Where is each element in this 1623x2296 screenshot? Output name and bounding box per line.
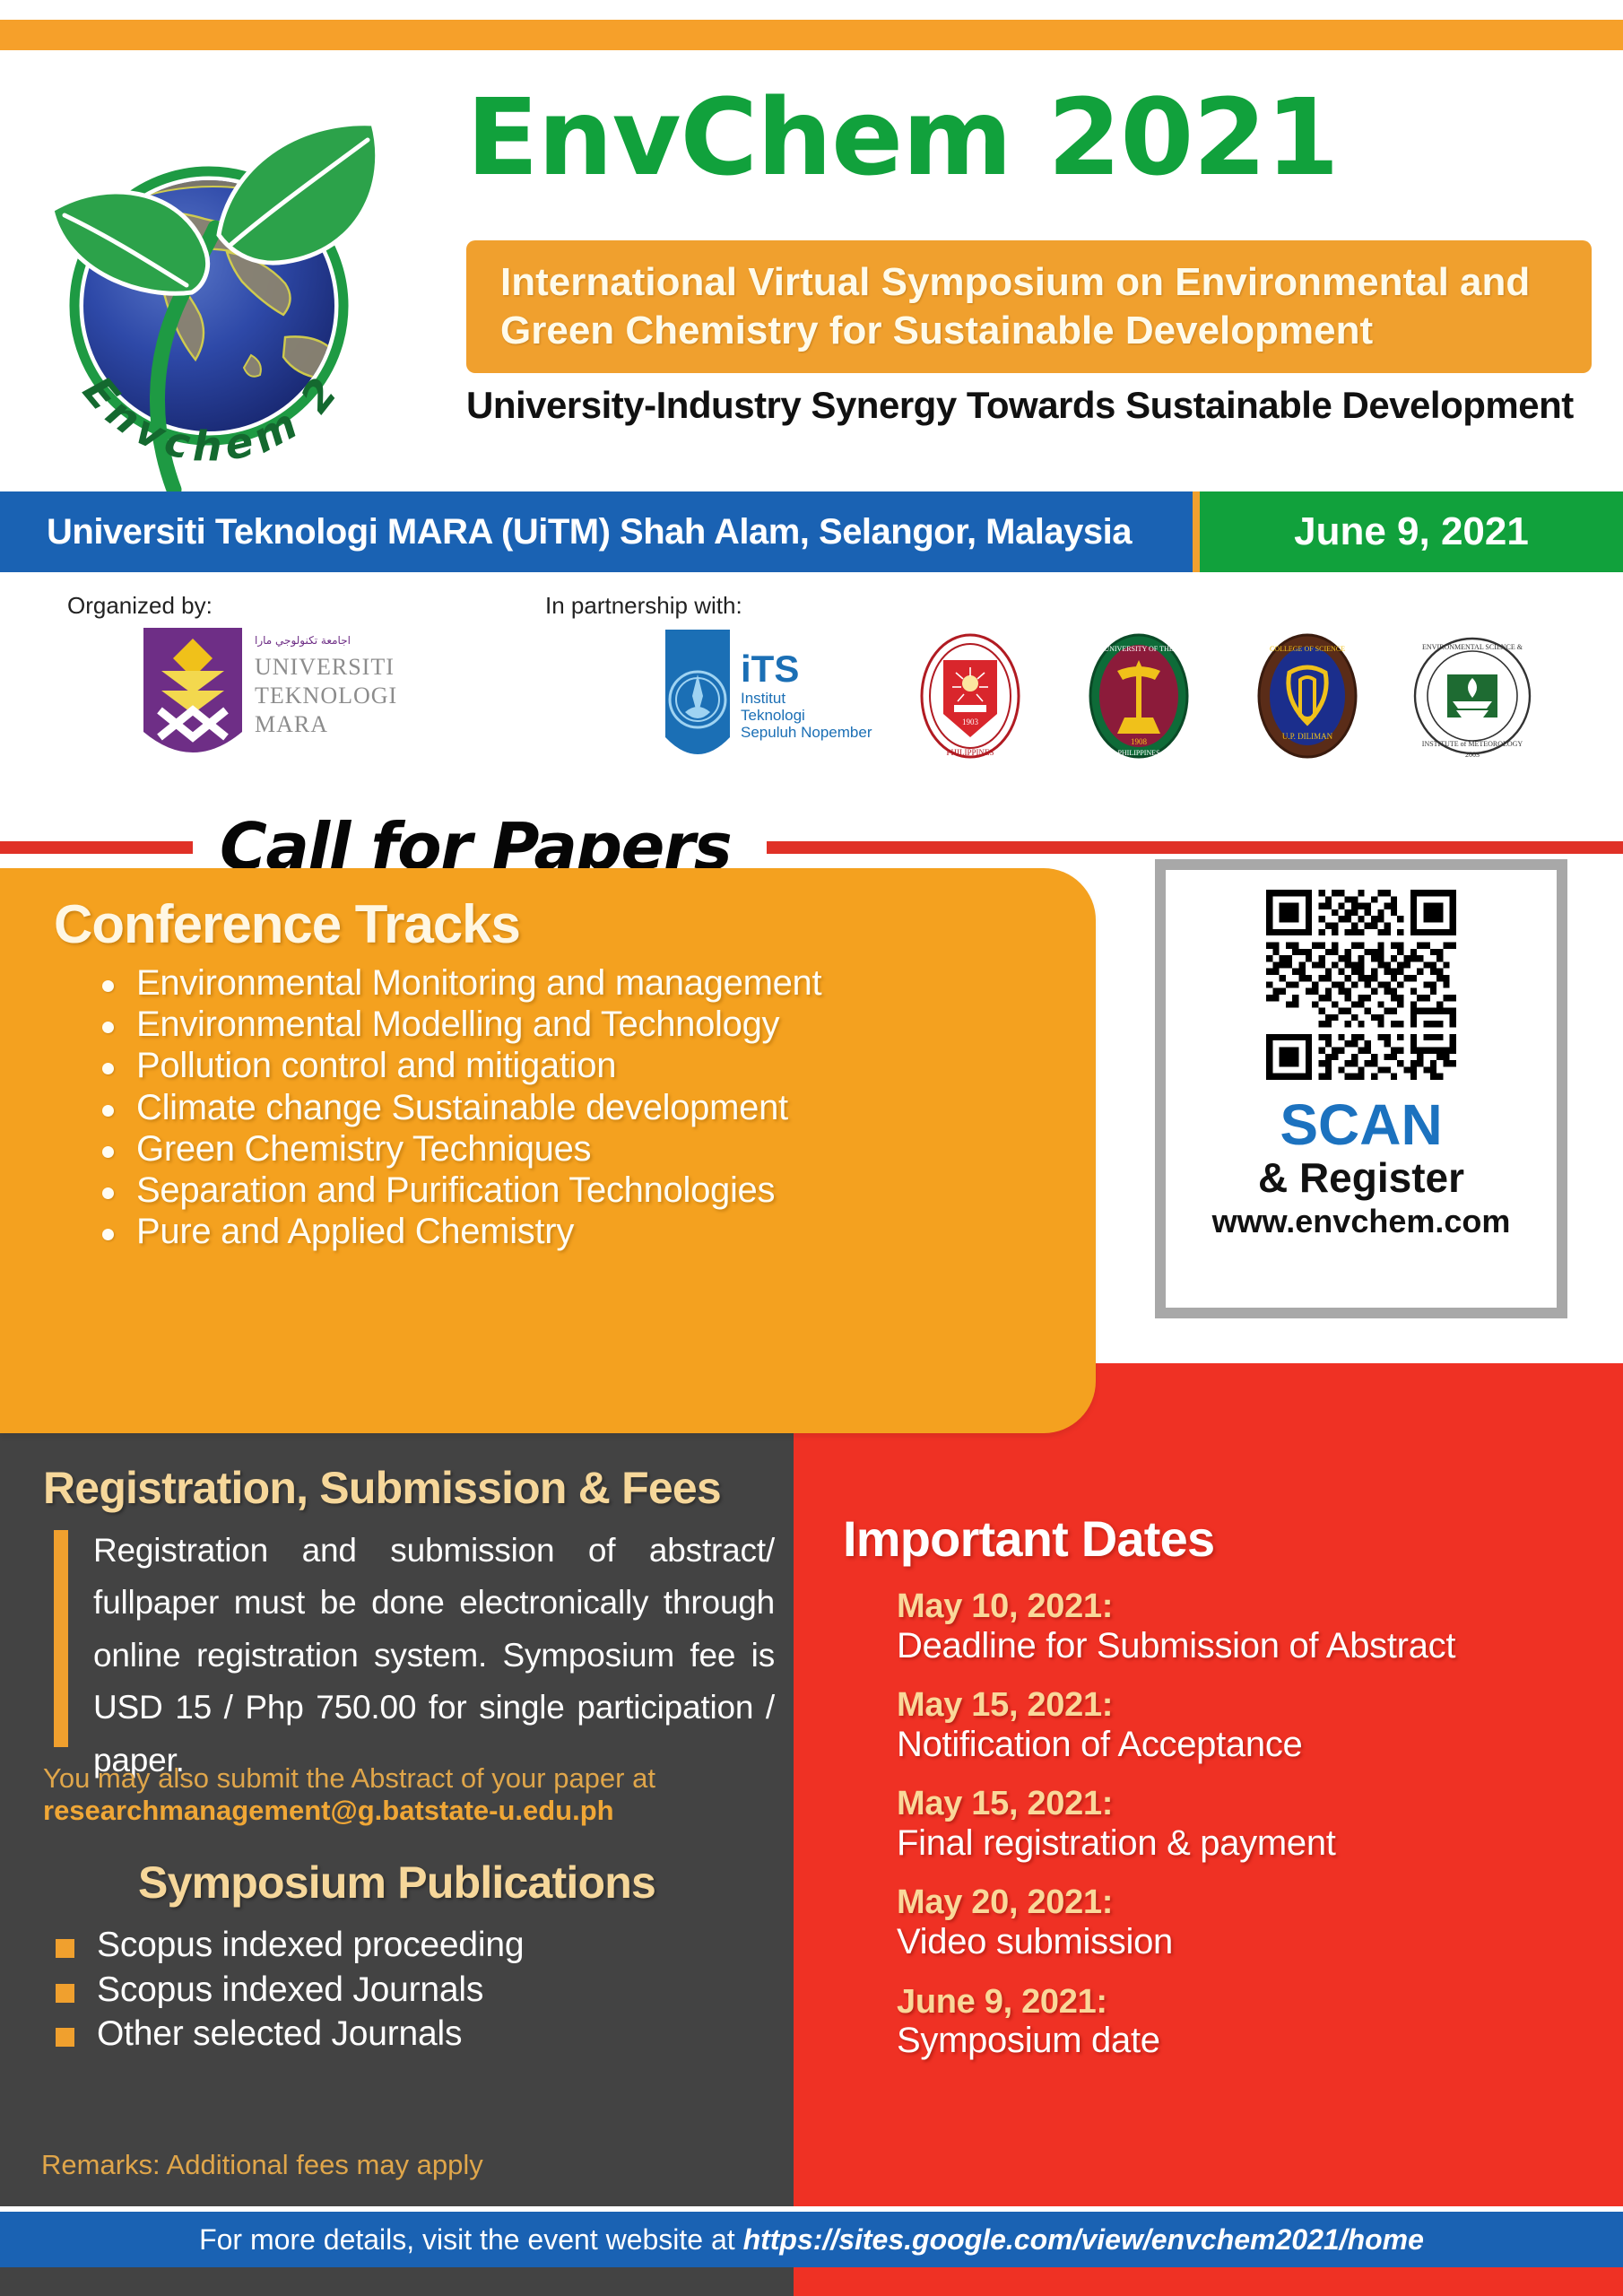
svg-text:COLLEGE OF SCIENCE: COLLEGE OF SCIENCE (1270, 645, 1345, 653)
cfp-rule-right (767, 841, 1623, 854)
list-item: May 10, 2021: Deadline for Submission of… (897, 1587, 1605, 1666)
partners-section: Organized by: In partnership with: اجامع… (0, 572, 1623, 798)
important-dates-heading: Important Dates (843, 1509, 1578, 1568)
list-item: Separation and Purification Technologies (97, 1170, 1096, 1211)
venue-divider (1193, 491, 1200, 572)
list-item: Other selected Journals (50, 2013, 785, 2055)
list-item: Environmental Modelling and Technology (97, 1004, 1096, 1045)
cfp-rule-left (0, 841, 193, 854)
logo-uitm: اجامعة تكنولوجي مارا UNIVERSITI TEKNOLOG… (143, 628, 397, 752)
footer-pad-left (0, 2267, 794, 2296)
logo-college-of-science: U.P. DILIMAN COLLEGE OF SCIENCE (1259, 635, 1356, 757)
date-event: Symposium date (897, 2021, 1605, 2062)
conference-tracks-heading: Conference Tracks (54, 893, 1096, 955)
registration-body-text: Registration and submission of abstract/… (93, 1525, 775, 1787)
publications-list: Scopus indexed proceeding Scopus indexed… (50, 1925, 785, 2058)
date-value: May 10, 2021: (897, 1587, 1605, 1626)
footer-prefix: For more details, visit the event websit… (199, 2223, 742, 2256)
svg-text:Institut: Institut (741, 690, 785, 707)
date-event: Video submission (897, 1922, 1605, 1963)
list-item: May 15, 2021: Final registration & payme… (897, 1785, 1605, 1864)
list-item: Scopus indexed proceeding (50, 1925, 785, 1966)
svg-text:iTS: iTS (741, 648, 799, 690)
list-item: Scopus indexed Journals (50, 1970, 785, 2011)
list-item: Environmental Monitoring and management (97, 962, 1096, 1004)
svg-text:Teknologi: Teknologi (741, 707, 805, 724)
envchem-logo: Envchem 2021 (16, 68, 447, 517)
venue-location-block: Universiti Teknologi MARA (UiTM) Shah Al… (0, 491, 1193, 572)
svg-text:UNIVERSITY OF THE: UNIVERSITY OF THE (1104, 645, 1173, 653)
list-item: June 9, 2021: Symposium date (897, 1983, 1605, 2062)
svg-text:TEKNOLOGI: TEKNOLOGI (255, 683, 397, 709)
logo-university-of-the-philippines: 1908 UNIVERSITY OF THE PHILIPPINES (1090, 635, 1187, 757)
publications-heading: Symposium Publications (0, 1857, 794, 1909)
date-value: May 15, 2021: (897, 1785, 1605, 1823)
abstract-submission-email[interactable]: researchmanagement@g.batstate-u.edu.ph (43, 1794, 787, 1829)
tagline: University-Industry Synergy Towards Sust… (466, 384, 1605, 427)
svg-text:MARA: MARA (255, 711, 328, 737)
svg-text:ENVIRONMENTAL SCIENCE &: ENVIRONMENTAL SCIENCE & (1422, 643, 1523, 651)
conference-tracks-list: Environmental Monitoring and management … (97, 962, 1096, 1252)
qr-code-icon[interactable] (1266, 890, 1456, 1080)
svg-text:UNIVERSITI: UNIVERSITI (255, 654, 395, 680)
footer-text: For more details, visit the event websit… (199, 2223, 1424, 2257)
svg-text:INSTITUTE of METEOROLOGY: INSTITUTE of METEOROLOGY (1422, 740, 1523, 748)
in-partnership-with-label: In partnership with: (545, 592, 742, 620)
poster-header: Envchem 2021 EnvChem 2021 International … (0, 50, 1623, 484)
important-dates-list: May 10, 2021: Deadline for Submission of… (897, 1587, 1605, 2082)
venue-date-block: June 9, 2021 (1200, 491, 1623, 572)
register-label: & Register (1258, 1157, 1464, 1198)
logo-environmental-science-meteorology: ENVIRONMENTAL SCIENCE & INSTITUTE of MET… (1415, 639, 1530, 759)
date-event: Deadline for Submission of Abstract (897, 1626, 1605, 1667)
venue-bar: Universiti Teknologi MARA (UiTM) Shah Al… (0, 491, 1623, 572)
list-item: May 20, 2021: Video submission (897, 1883, 1605, 1962)
subtitle-text: International Virtual Symposium on Envir… (466, 258, 1592, 354)
page-title: EnvChem 2021 (466, 84, 1605, 190)
logo-its: iTS Institut Teknologi Sepuluh Nopember (665, 630, 872, 754)
logo-batangas-state-university: 1903 PHILIPPINES (922, 635, 1019, 757)
list-item: Climate change Sustainable development (97, 1087, 1096, 1128)
conference-tracks-card: Conference Tracks Environmental Monitori… (0, 868, 1096, 1433)
registration-url[interactable]: www.envchem.com (1212, 1205, 1511, 1238)
registration-heading: Registration, Submission & Fees (43, 1462, 778, 1514)
top-accent-bar (0, 20, 1623, 50)
venue-date-text: June 9, 2021 (1294, 509, 1529, 554)
venue-location-text: Universiti Teknologi MARA (UiTM) Shah Al… (0, 512, 1132, 552)
date-value: May 15, 2021: (897, 1686, 1605, 1725)
publications-remark: Remarks: Additional fees may apply (41, 2149, 785, 2181)
scan-label: SCAN (1280, 1096, 1442, 1153)
svg-text:1908: 1908 (1131, 737, 1148, 746)
footer-url[interactable]: https://sites.google.com/view/envchem202… (743, 2223, 1424, 2256)
list-item: Green Chemistry Techniques (97, 1128, 1096, 1170)
svg-text:2003: 2003 (1465, 751, 1480, 759)
partner-logos-graphic: اجامعة تكنولوجي مارا UNIVERSITI TEKNOLOG… (0, 624, 1623, 777)
subtitle-band: International Virtual Symposium on Envir… (466, 240, 1592, 373)
date-value: June 9, 2021: (897, 1983, 1605, 2022)
date-event: Final registration & payment (897, 1823, 1605, 1865)
footer-bar: For more details, visit the event websit… (0, 2212, 1623, 2267)
svg-text:U.P. DILIMAN: U.P. DILIMAN (1282, 732, 1333, 741)
list-item: Pollution control and mitigation (97, 1045, 1096, 1086)
abstract-submission-note: You may also submit the Abstract of your… (43, 1761, 787, 1796)
list-item: May 15, 2021: Notification of Acceptance (897, 1686, 1605, 1765)
list-item: Pure and Applied Chemistry (97, 1211, 1096, 1252)
svg-text:Sepuluh Nopember: Sepuluh Nopember (741, 724, 872, 741)
svg-text:PHILIPPINES: PHILIPPINES (1117, 749, 1159, 757)
scan-register-card[interactable]: SCAN & Register www.envchem.com (1155, 859, 1567, 1318)
partner-logo-row: اجامعة تكنولوجي مارا UNIVERSITI TEKNOLOG… (0, 624, 1623, 777)
organized-by-label: Organized by: (67, 592, 213, 620)
envchem-logo-graphic: Envchem 2021 (16, 68, 447, 517)
registration-accent-bar (54, 1530, 68, 1747)
svg-text:PHILIPPINES: PHILIPPINES (946, 748, 994, 757)
svg-text:1903: 1903 (962, 717, 979, 726)
date-event: Notification of Acceptance (897, 1725, 1605, 1766)
svg-text:اجامعة تكنولوجي مارا: اجامعة تكنولوجي مارا (255, 634, 351, 648)
date-value: May 20, 2021: (897, 1883, 1605, 1922)
footer-pad-right (794, 2267, 1623, 2296)
scan-register-inner: SCAN & Register www.envchem.com (1166, 870, 1557, 1308)
